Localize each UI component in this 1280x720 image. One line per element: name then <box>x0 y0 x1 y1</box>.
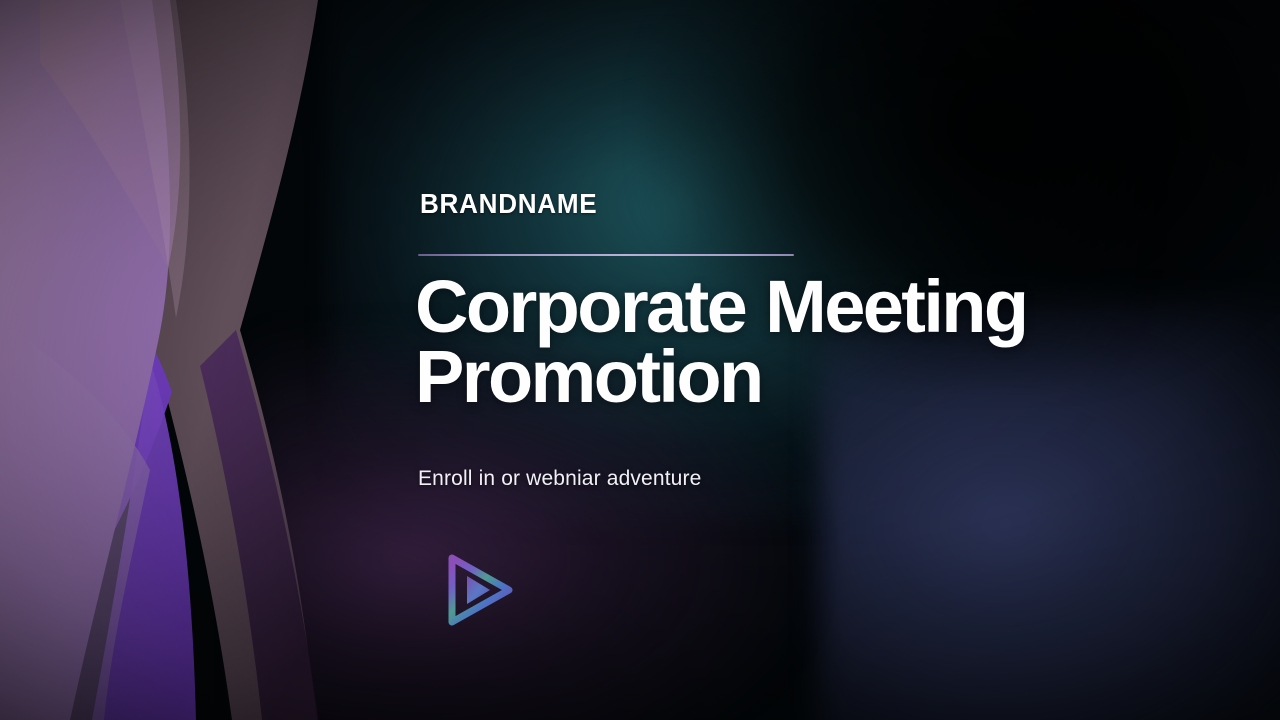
brand-name: BRANDNAME <box>420 190 597 218</box>
title-divider <box>418 254 794 256</box>
play-button[interactable] <box>431 552 519 628</box>
play-triangle-icon <box>431 552 519 628</box>
content-block: BRANDNAME Corporate Meeting Promotion En… <box>418 0 1218 720</box>
subtitle: Enroll in or webniar adventure <box>418 468 702 489</box>
headline-line-1: Corporate Meeting <box>415 272 1205 342</box>
headline-line-2: Promotion <box>415 342 1205 412</box>
headline: Corporate Meeting Promotion <box>415 272 1205 412</box>
decorative-wave-panel <box>0 0 330 720</box>
promo-slide: BRANDNAME Corporate Meeting Promotion En… <box>0 0 1280 720</box>
